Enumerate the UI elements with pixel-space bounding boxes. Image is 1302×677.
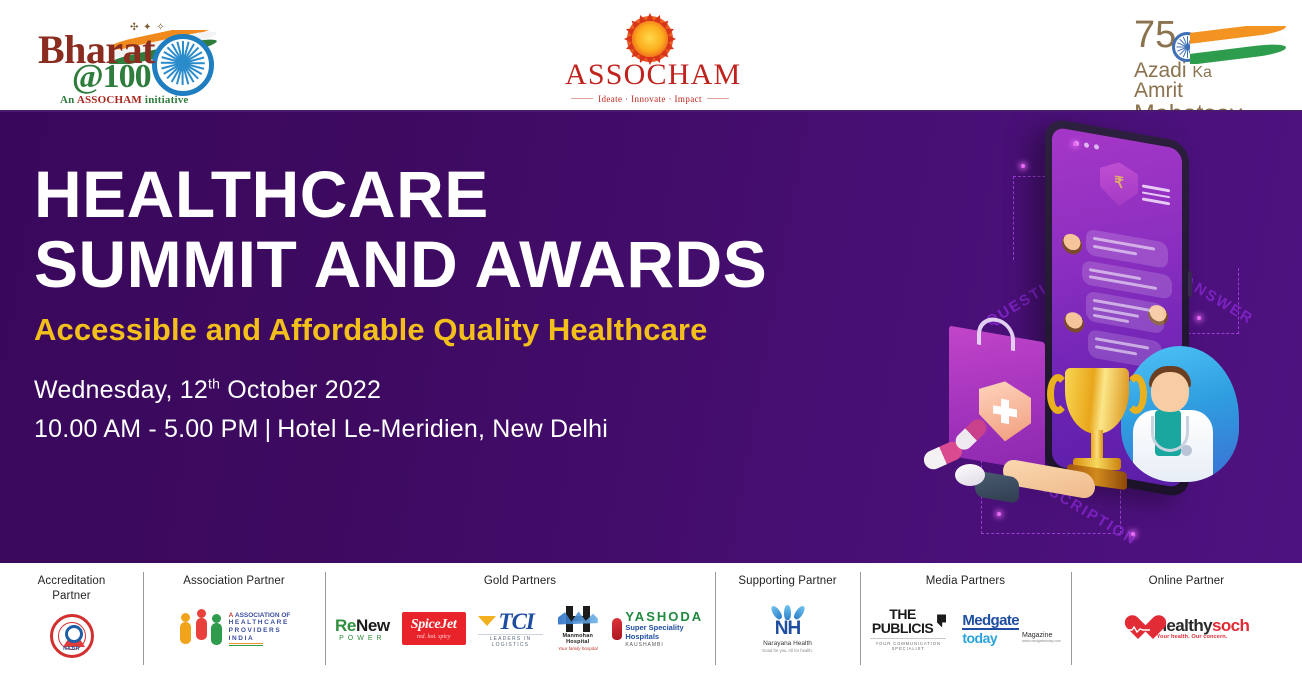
page-title-line-1: HEALTHCARE [34, 160, 914, 230]
ecg-line-icon [1127, 626, 1150, 633]
sparkle-icon [1131, 532, 1135, 536]
stethoscope-icon [1151, 416, 1189, 452]
partner-logo-row: AASSOCIATION OF HEALTHCARE PROVIDERS IND… [168, 589, 301, 677]
status-dots-icon [1074, 140, 1099, 149]
bharat-tagline: An ASSOCHAM initiative [60, 94, 189, 106]
partner-group-title: Accreditation Partner [38, 574, 106, 604]
azadi-ka-amrit-mahotsav-logo: 75 Azadi Ka Amrit Mahotsav [1128, 16, 1288, 102]
partner-group-accreditation: Accreditation Partner NABH [0, 563, 143, 677]
medical-bag-illustration [949, 326, 1045, 473]
partner-group-media: Media Partners THE PUBLICIS YOUR COMMUNI… [860, 563, 1071, 677]
manmohan-hospital-logo: Manmohan Hospital Your family hospital [555, 606, 600, 651]
people-icon [178, 609, 224, 649]
tricolour-underline [229, 643, 263, 646]
hero-banner: HEALTHCARE SUMMIT AND AWARDS Accessible … [0, 112, 1302, 563]
assocham-tagline: Ideate · Innovate · Impact [598, 94, 702, 104]
trophy-cup [1065, 368, 1129, 434]
the-publicis-logo: THE PUBLICIS YOUR COMMUNICATION SPECIALI… [870, 607, 946, 651]
trophy-stem [1091, 430, 1103, 460]
sparkle-icon [1073, 142, 1077, 146]
partner-group-title: Gold Partners [484, 574, 556, 589]
sparkle-icon [1197, 316, 1201, 320]
ahpi-wordmark: AASSOCIATION OF HEALTHCARE PROVIDERS IND… [229, 612, 291, 647]
healthysoch-logo: healthysoch Your health. Our concern. [1124, 616, 1250, 641]
logo-header-bar: ✣ ✦ ✧ Bharat @100 An ASSOCHAM initiative… [0, 0, 1302, 112]
sparkle-icon [1021, 164, 1025, 168]
partner-group-title: Media Partners [926, 574, 1005, 589]
partner-group-association: Association Partner AASSOCIATION OF [143, 563, 325, 677]
bharat-at100-number: @100 [72, 60, 151, 94]
indian-flag-icon [1190, 26, 1286, 64]
tci-logo: TCI LEADERS IN LOGISTICS [478, 610, 544, 648]
partner-group-online: Online Partner healthysoch Your health. … [1071, 563, 1302, 677]
event-date: Wednesday, 12th October 2022 [34, 371, 914, 411]
lotus-icon [773, 605, 803, 620]
arrow-icon [478, 616, 496, 626]
avatar [1062, 232, 1082, 256]
assocham-logo: ASSOCHAM Ideate · Innovate · Impact [565, 16, 735, 98]
sparkle-icon [997, 512, 1001, 516]
seventy-five-number: 75 [1134, 16, 1176, 54]
heart-icon [1124, 616, 1152, 641]
partner-logo-row: NABH [40, 604, 104, 677]
rupee-shield-icon: ₹ [1100, 159, 1138, 210]
partner-logo-row: NH Narayana Health Good for you. All for… [752, 589, 823, 677]
chat-bubble [1086, 291, 1164, 335]
medical-cross-shield-icon [979, 377, 1031, 446]
medgate-today-logo: Medgate today Magazine www.medgatetoday.… [962, 613, 1061, 645]
yashoda-mark-icon [612, 618, 622, 640]
nabh-logo: NABH [50, 614, 94, 658]
bharat-at-100-logo: ✣ ✦ ✧ Bharat @100 An ASSOCHAM initiative [34, 14, 224, 104]
partner-group-gold: Gold Partners ReNew POWER SpiceJet red. … [325, 563, 715, 677]
assocham-tagline-row: Ideate · Innovate · Impact [565, 94, 735, 104]
flag-icon [937, 614, 946, 627]
rule-right [707, 98, 729, 99]
partner-logo-row: ReNew POWER SpiceJet red. hot. spicy TCI… [325, 589, 715, 677]
healthcare-illustration: QUESTION ANSWER PRESCRIPTION ₹ [905, 120, 1295, 560]
yashoda-hospitals-logo: YASHODA Super Speciality Hospitals KAUSH… [612, 610, 705, 649]
bag-handle [977, 314, 1015, 351]
event-time-venue: 10.00 AM - 5.00 PM|Hotel Le-Meridien, Ne… [34, 410, 914, 450]
event-subtitle: Accessible and Affordable Quality Health… [34, 312, 914, 348]
event-meta: Wednesday, 12th October 2022 10.00 AM - … [34, 371, 914, 450]
rule-left [571, 98, 593, 99]
partner-groups: Accreditation Partner NABH Association P… [0, 563, 1302, 677]
phone-side-button [1188, 271, 1192, 298]
sun-icon [627, 16, 673, 62]
renew-power-logo: ReNew POWER [335, 616, 390, 642]
hospital-h-icon [558, 606, 598, 632]
open-hand-illustration [975, 460, 1099, 502]
hero-text-block: HEALTHCARE SUMMIT AND AWARDS Accessible … [34, 160, 914, 450]
tablet-pill-icon [955, 464, 985, 486]
narayana-health-logo: NH Narayana Health Good for you. All for… [762, 605, 813, 653]
event-banner: ✣ ✦ ✧ Bharat @100 An ASSOCHAM initiative… [0, 0, 1302, 677]
page-title-line-2: SUMMIT AND AWARDS [34, 230, 914, 300]
partners-footer: Accreditation Partner NABH Association P… [0, 563, 1302, 677]
partner-logo-row: healthysoch Your health. Our concern. [1114, 589, 1260, 677]
spicejet-logo: SpiceJet red. hot. spicy [402, 612, 466, 645]
ahpi-logo: AASSOCIATION OF HEALTHCARE PROVIDERS IND… [178, 609, 291, 649]
partner-group-supporting: Supporting Partner NH Narayana Health Go… [715, 563, 860, 677]
partner-group-title: Supporting Partner [738, 574, 836, 589]
doctor-head [1151, 372, 1189, 412]
partner-logo-row: THE PUBLICIS YOUR COMMUNICATION SPECIALI… [860, 589, 1071, 677]
partner-group-title: Online Partner [1149, 574, 1225, 589]
avatar [1064, 311, 1084, 335]
partner-group-title: Association Partner [183, 574, 285, 589]
menu-icon [1142, 184, 1170, 208]
ashoka-chakra-icon [152, 34, 214, 96]
